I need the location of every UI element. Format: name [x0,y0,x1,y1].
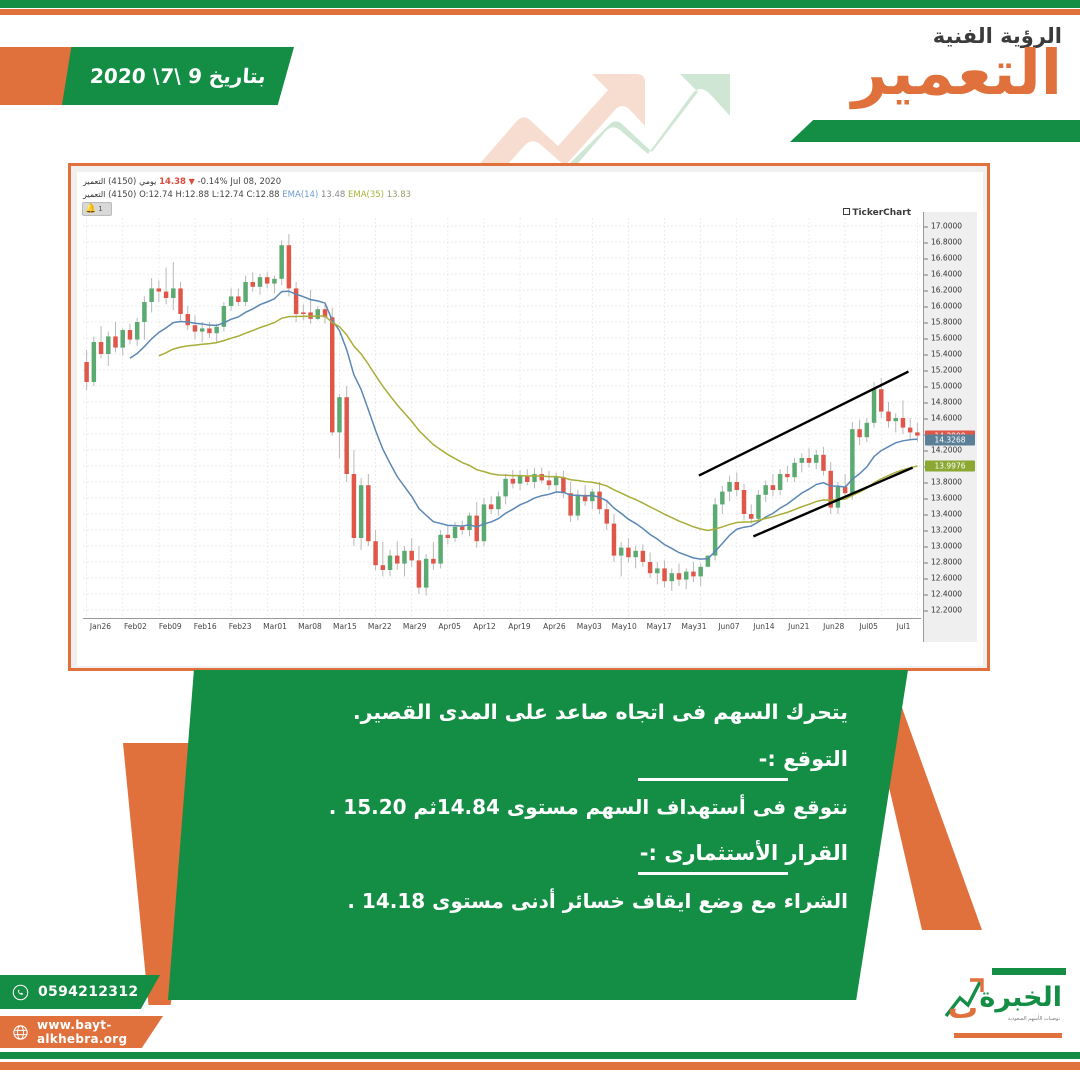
whatsapp-icon [12,984,29,1001]
quote-date: Jul 08, 2020 [230,176,281,188]
bottom-green-rule [0,1052,1080,1059]
candlestick-plot [83,218,921,618]
x-axis-tick: Jun21 [788,622,809,631]
brand-logo: ٮ الخبرة توصيات الأسهم السعودية [926,968,1066,1046]
x-axis-tick: Jun28 [823,622,844,631]
chart-header-line-2: التعمير (4150) O:12.74 H:12.88 L:12.74 C… [83,189,977,202]
symbol-name-ar: التعمير [83,176,105,188]
ema14-value: 13.48 [321,189,345,201]
whatsapp-number: 0594212312 [38,984,138,1000]
ema14-label: EMA(14) [282,189,318,201]
y-axis-tick: 17.0000 [931,222,962,231]
x-axis-tick: Mar08 [298,622,322,631]
chart-inner: التعمير (4150) يومي 14.38 ▼ -0.14% Jul 0… [77,172,983,666]
x-axis-tick: Feb09 [159,622,182,631]
y-axis-tick: 12.6000 [931,574,962,583]
y-axis-tick: 13.2000 [931,526,962,535]
x-axis-tick: May03 [577,622,602,631]
top-green-rule [0,0,1080,8]
y-axis-tick: 16.2000 [931,286,962,295]
close-value: C:12.88 [246,189,279,201]
y-axis-tick: 15.0000 [931,382,962,391]
period-label: يومي [139,176,156,188]
x-axis-tick: Mar15 [333,622,357,631]
header-green-bar [790,120,1080,142]
x-axis-tick: Mar29 [403,622,427,631]
decision-heading: القرار الأستثمارى :- [238,841,848,866]
last-price: 14.38 [159,176,186,188]
open-value: O:12.74 [139,189,173,201]
change-percent: -0.14% [198,176,228,188]
brand-name: الخبرة [979,984,1062,1011]
header-main-title: التعمير [852,44,1062,103]
brand-green-bar [992,968,1066,975]
date-badge-green: بتاريخ 9 \7\ 2020 [62,47,294,105]
header-title-block: الرؤية الفنية التعمير [852,25,1062,103]
x-axis-tick: Jul1 [897,622,911,631]
chart-header: التعمير (4150) يومي 14.38 ▼ -0.14% Jul 0… [77,172,983,206]
website-contact[interactable]: www.bayt-alkhebra.org [0,1016,163,1048]
analysis-banner: يتحرك السهم فى اتجاه صاعد على المدى القص… [0,660,1080,1005]
date-badge: بتاريخ 9 \7\ 2020 [0,47,300,105]
forecast-underline [638,778,788,781]
tickerchart-watermark: TickerChart [843,208,911,218]
forecast-heading: التوقع :- [238,747,848,772]
x-axis-tick: Feb16 [194,622,217,631]
chart-frame: التعمير (4150) يومي 14.38 ▼ -0.14% Jul 0… [68,163,990,671]
bottom-orange-rule [0,1062,1080,1070]
x-axis-tick: Jul05 [859,622,878,631]
x-axis-tick: Feb23 [229,622,252,631]
x-axis-tick: Apr12 [473,622,496,631]
y-axis: 17.000016.800016.600016.400016.200016.00… [923,212,977,642]
brand-tagline: توصيات الأسهم السعودية [1008,1016,1060,1022]
ema35-value: 13.83 [387,189,411,201]
y-axis-tick: 14.2000 [931,446,962,455]
alert-count: 1 [98,205,102,213]
x-axis-tick: Mar01 [263,622,287,631]
high-value: H:12.88 [176,189,210,201]
bell-icon: 🔔 [85,205,96,214]
x-axis-tick: Jun14 [753,622,774,631]
x-axis-tick: May31 [682,622,707,631]
x-axis-tick: Mar22 [368,622,392,631]
y-axis-tick: 14.6000 [931,414,962,423]
price-marker: 13.9976 [925,461,975,472]
forecast-text: نتوقع فى أستهداف السهم مستوى 14.84ثم 15.… [238,795,848,819]
x-axis-tick: Jan26 [90,622,111,631]
globe-icon [12,1024,29,1041]
y-axis-tick: 13.6000 [931,494,962,503]
price-marker: 14.3268 [925,434,975,445]
chart-header-line-1: التعمير (4150) يومي 14.38 ▼ -0.14% Jul 0… [83,176,977,189]
date-text: بتاريخ 9 \7\ 2020 [89,64,266,88]
tickerchart-label: TickerChart [852,208,911,218]
top-orange-rule [0,9,1080,15]
alert-badge[interactable]: 🔔 1 [82,202,112,216]
poster-root: بتاريخ 9 \7\ 2020 الرؤية الفنية التعمير … [0,0,1080,1080]
x-axis: Jan26Feb02Feb09Feb16Feb23Mar01Mar08Mar15… [83,618,921,640]
y-axis-tick: 16.4000 [931,270,962,279]
x-axis-tick: Apr19 [508,622,531,631]
y-axis-tick: 16.0000 [931,302,962,311]
brand-orange-bar [954,1033,1062,1038]
x-axis-tick: Feb02 [124,622,147,631]
y-axis-tick: 12.8000 [931,558,962,567]
ohlc-symbol-code: (4150) [108,189,136,201]
y-axis-tick: 14.8000 [931,398,962,407]
brand-mark-orange: ٮ [948,994,978,1024]
analysis-summary: يتحرك السهم فى اتجاه صاعد على المدى القص… [238,700,848,725]
x-axis-tick: Jun07 [718,622,739,631]
y-axis-tick: 16.8000 [931,238,962,247]
down-arrow-icon: ▼ [189,176,195,188]
y-axis-tick: 16.6000 [931,254,962,263]
symbol-code: (4150) [108,176,136,188]
y-axis-tick: 12.4000 [931,590,962,599]
x-axis-tick: May17 [647,622,672,631]
tickerchart-logo-icon [843,208,850,215]
y-axis-tick: 15.2000 [931,366,962,375]
decision-text: الشراء مع وضع ايقاف خسائر أدنى مستوى 14.… [238,889,848,913]
whatsapp-contact[interactable]: 0594212312 [0,975,160,1009]
y-axis-tick: 15.6000 [931,334,962,343]
decision-underline [638,872,788,875]
banner-body: يتحرك السهم فى اتجاه صاعد على المدى القص… [168,670,908,1000]
x-axis-tick: Apr05 [438,622,461,631]
ema35-label: EMA(35) [348,189,384,201]
y-axis-tick: 15.4000 [931,350,962,359]
x-axis-tick: May10 [612,622,637,631]
website-url: www.bayt-alkhebra.org [37,1018,163,1046]
ohlc-symbol-ar: التعمير [83,189,105,201]
x-axis-tick: Apr26 [543,622,566,631]
y-axis-tick: 12.2000 [931,606,962,615]
y-axis-tick: 15.8000 [931,318,962,327]
low-value: L:12.74 [212,189,244,201]
y-axis-tick: 13.8000 [931,478,962,487]
y-axis-tick: 13.4000 [931,510,962,519]
y-axis-tick: 13.0000 [931,542,962,551]
